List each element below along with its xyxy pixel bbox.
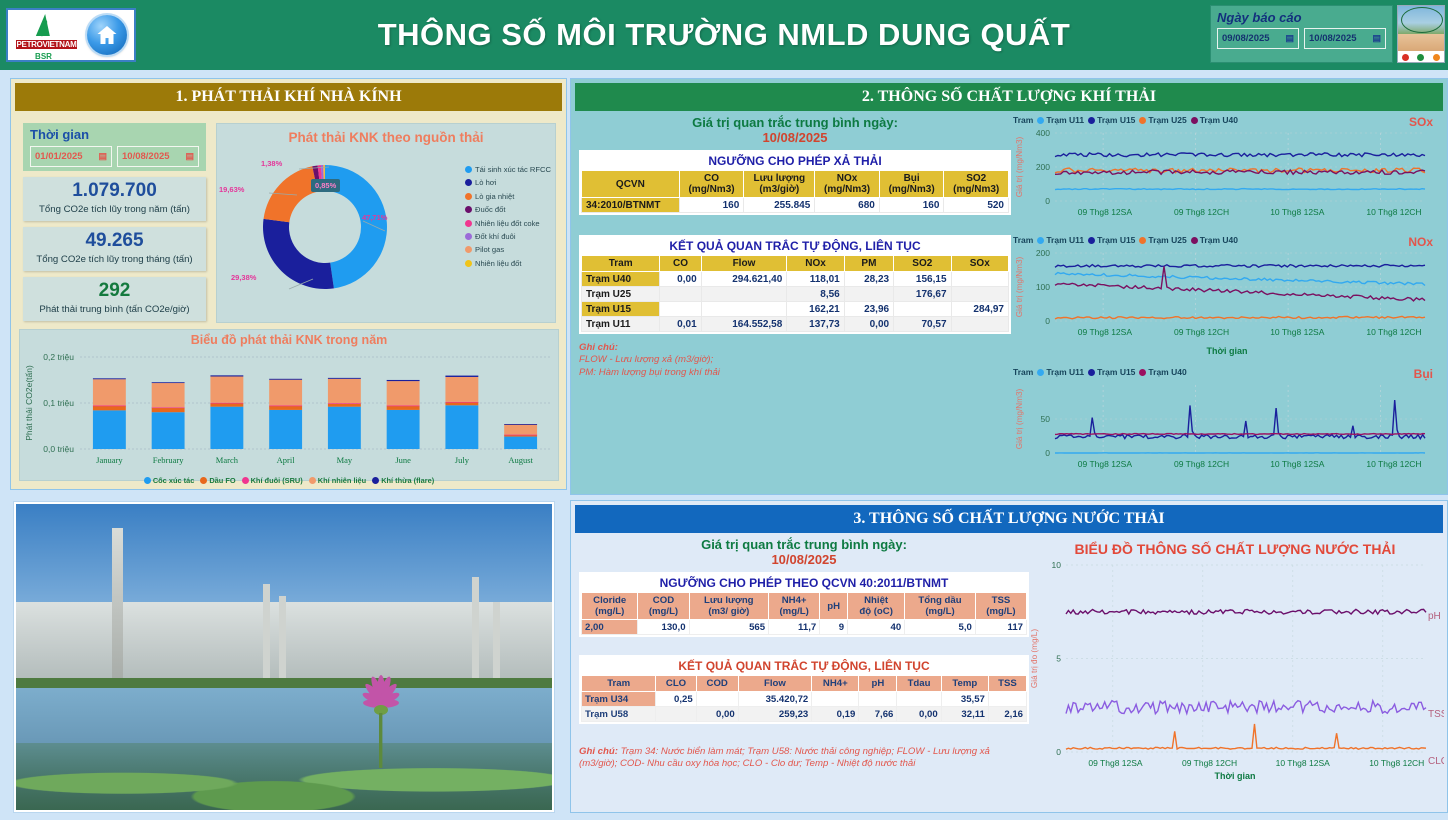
calendar-icon[interactable]: ▤ [1372,33,1381,44]
calendar-icon[interactable]: ▤ [185,151,194,162]
chart-wastewater[interactable]: BIỂU ĐỒ THÔNG SỐ CHẤT LƯỢNG NƯỚC THẢI 05… [1026,541,1444,781]
table-cell: 23,96 [844,302,893,317]
legend-color-dot [1088,117,1095,124]
line-series[interactable] [1055,189,1425,190]
table-cell [812,692,859,707]
wastewater-chart-title: BIỂU ĐỒ THÔNG SỐ CHẤT LƯỢNG NƯỚC THẢI [1026,541,1444,557]
y-axis-label: Phát thải CO2e(tấn) [24,365,34,441]
bui-legend[interactable]: TramTrạm U11Trạm U15Trạm U40 [1011,367,1443,377]
column-header: Lưu lượng(m3/giờ) [744,171,815,198]
table-cell: 40 [848,620,905,635]
report-date-to[interactable]: 10/08/2025 ▤ [1304,28,1386,49]
panel2-threshold-table-wrap: NGƯỠNG CHO PHÉP XẢ THẢI QCVNCO(mg/Nm3)Lư… [579,150,1011,215]
x-axis-tick: 10 Thg8 12CH [1369,758,1424,768]
column-header: Cloride(mg/L) [582,593,638,620]
bar-segment[interactable] [328,378,361,379]
legend-item[interactable]: Nhiên liệu đốt [465,259,551,268]
column-header: pH [820,593,848,620]
legend-item[interactable]: Đốt khí đuôi [465,232,551,241]
report-date-from-value: 09/08/2025 [1222,33,1270,44]
bar-segment[interactable] [269,405,302,406]
refinery-lotus-photo [14,502,554,812]
column-header: Flow [738,676,812,692]
legend-title: Tram [1013,367,1033,377]
line-series[interactable] [1055,273,1425,286]
row-header-cell: Trạm U25 [582,287,660,302]
panel3-results-table[interactable]: TramCLOCODFlowNH4+pHTdauTempTSS Trạm U34… [581,675,1027,722]
y-axis-tick: 0,2 triệu [43,352,74,362]
x-axis-tick: April [277,455,296,465]
sox-chart-title: SOx [1409,115,1433,129]
environment-emblem-icon [1397,5,1445,63]
column-header: Temp [941,676,988,692]
table-cell: 2,16 [988,707,1026,722]
legend-item[interactable]: Trạm U11 [1037,367,1084,377]
table-cell: 7,66 [859,707,897,722]
column-header: COD(mg/L) [638,593,689,620]
bar-segment[interactable] [504,435,537,436]
legend-item[interactable]: Đuốc đốt [465,205,551,214]
legend-label: Khí nhiên liệu [318,476,366,485]
kpi-card-month-total: 49.265 Tổng CO2e tích lũy trong tháng (t… [23,227,206,271]
table-cell: 137,73 [787,317,844,332]
table-cell: 160 [679,198,744,213]
panel3-threshold-table: Cloride(mg/L)COD(mg/L)Lưu lượng(m3/ giờ)… [581,592,1027,635]
kpi-label: Tổng CO2e tích lũy trong năm (tấn) [23,204,206,215]
legend-label: Cốc xúc tác [153,476,195,485]
legend-label: Trạm U15 [1097,367,1135,377]
legend-label: Nhiên liệu đốt [475,259,521,268]
x-axis-tick: 09 Thg8 12CH [1182,758,1237,768]
table-cell [660,302,701,317]
table-cell: 35,57 [941,692,988,707]
chart-bui[interactable]: TramTrạm U11Trạm U15Trạm U40 Bụi 050Giá … [1011,367,1443,485]
bar-segment[interactable] [504,424,537,434]
y-axis-tick: 50 [1041,414,1051,424]
bar-segment[interactable] [210,377,243,403]
legend-color-dot [465,246,472,253]
brand-name-bottom: BSR [16,52,72,61]
panel3-note: Ghi chú: Trạm 34: Nước biển làm mát; Trạ… [579,746,1029,771]
line-series[interactable] [1055,400,1425,439]
chart-nox[interactable]: TramTrạm U11Trạm U15Trạm U25Trạm U40 NOx… [1011,235,1443,365]
bar-segment[interactable] [152,408,185,413]
x-axis-tick: July [455,455,470,465]
line-series[interactable] [1055,153,1425,157]
legend-item[interactable]: Nhiên liệu đốt coke [465,219,551,228]
nox-xaxis-label: Thời gian [1011,346,1443,356]
legend-item[interactable]: Khí đuôi (SRU) [242,476,303,485]
column-header: QCVN [582,171,680,198]
bar-segment[interactable] [152,412,185,449]
panel3-note-line: Trạm 34: Nước biển làm mát; Trạm U58: Nư… [621,746,990,757]
kpi-value: 1.079.700 [23,180,206,202]
panel-emission-quality: 2. THÔNG SỐ CHẤT LƯỢNG KHÍ THẢI Giá trị … [570,78,1448,495]
table-cell: 0,00 [660,272,701,287]
bar-segment[interactable] [152,407,185,408]
column-header: CO [660,256,701,272]
bar-segment[interactable] [445,376,478,377]
kpi-value: 292 [23,280,206,302]
legend-color-dot [1037,117,1044,124]
table-cell: 0,19 [812,707,859,722]
column-header: SOx [951,256,1008,272]
bar-segment[interactable] [328,379,361,403]
legend-label: Trạm U11 [1046,367,1084,377]
x-axis-tick: 09 Thg8 12SA [1078,459,1133,469]
bar-segment[interactable] [210,403,243,404]
panel2-threshold-table: QCVNCO(mg/Nm3)Lưu lượng(m3/giờ)NOx(mg/Nm… [581,170,1009,213]
panel2-note-title: Ghi chú: [579,342,618,353]
table-cell: 28,23 [844,272,893,287]
panel2-note: Ghi chú: FLOW - Lưu lượng xả (m3/giờ); P… [579,342,1011,379]
bui-chart-title: Bụi [1414,367,1433,381]
bar-segment[interactable] [504,424,537,425]
table-row[interactable]: Trạm U400,00294.621,40118,0128,23156,15 [582,272,1009,287]
column-header: COD [696,676,738,692]
column-header: TSS(mg/L) [975,593,1026,620]
table-cell: 9 [820,620,848,635]
donut-slice[interactable] [263,219,334,289]
x-axis-tick: May [337,455,353,465]
bar-segment[interactable] [152,383,185,407]
table-header-row: TramCOFlowNOxPMSO2SOx [582,256,1009,272]
legend-label: Dầu FO [209,476,235,485]
y-axis-tick: 200 [1036,248,1050,258]
column-header: NOx [787,256,844,272]
legend-item[interactable]: Trạm U11 [1037,235,1084,245]
bar-segment[interactable] [387,380,420,381]
column-header: Nhiệtđộ (oC) [848,593,905,620]
legend-label: Pilot gas [475,245,504,254]
legend-label: Trạm U15 [1097,235,1135,245]
panel1-title: 1. PHÁT THẢI KHÍ NHÀ KÍNH [15,83,562,111]
legend-label: Trạm U40 [1200,115,1238,125]
legend-title: Tram [1013,115,1033,125]
table-cell: 0,00 [844,317,893,332]
report-date-to-value: 10/08/2025 [1309,33,1357,44]
donut-percent-label: 47,71% [362,213,387,222]
legend-label: Đốt khí đuôi [475,232,516,241]
x-axis-tick: June [395,455,411,465]
legend-label: Trạm U25 [1148,235,1186,245]
bar-segment[interactable] [269,406,302,410]
line-series[interactable] [1066,724,1426,749]
x-axis-tick: February [153,455,184,465]
column-header: CLO [656,676,696,692]
y-axis-tick: 0 [1056,747,1061,757]
bar-segment[interactable] [93,410,126,449]
legend-item[interactable]: Trạm U11 [1037,115,1084,125]
legend-label: Trạm U15 [1097,115,1135,125]
table-cell: 520 [944,198,1009,213]
legend-label: Khí thừa (flare) [381,476,434,485]
x-axis-tick: August [508,455,533,465]
legend-label: Trạm U11 [1046,235,1084,245]
legend-color-dot [465,206,472,213]
line-series[interactable] [1066,701,1426,714]
chart-sox[interactable]: TramTrạm U11Trạm U15Trạm U25Trạm U40 SOx… [1011,115,1443,233]
table-row[interactable]: Trạm U15162,2123,96284,97 [582,302,1009,317]
lotus-flower-icon [348,668,414,773]
table-cell [696,692,738,707]
legend-item[interactable]: Trạm U25 [1139,115,1186,125]
time-filter-from[interactable]: 01/01/2025 ▤ [30,146,112,167]
legend-color-dot [465,179,472,186]
y-axis-tick: 0,1 triệu [43,398,74,408]
panel3-threshold-caption: NGƯỠNG CHO PHÉP THEO QCVN 40:2011/BTNMT [581,574,1027,592]
table-row[interactable]: Trạm U258,56176,67 [582,287,1009,302]
bar-segment[interactable] [210,403,243,407]
legend-item[interactable]: Pilot gas [465,245,551,254]
legend-color-dot [1037,237,1044,244]
legend-item[interactable]: Cốc xúc tác [144,476,195,485]
legend-item[interactable]: Trạm U40 [1191,115,1238,125]
table-cell: 5,0 [905,620,976,635]
nox-chart-title: NOx [1408,235,1433,249]
nox-legend[interactable]: TramTrạm U11Trạm U15Trạm U25Trạm U40 [1011,235,1443,245]
donut-percent-label: 0,85% [311,179,340,192]
column-header: Tram [582,256,660,272]
wastewater-xaxis-label: Thời gian [1026,771,1444,781]
legend-color-dot [372,477,379,484]
panel2-note-line: PM: Hàm lượng bụi trong khí thải [579,367,1011,379]
x-axis-tick: 09 Thg8 12SA [1088,758,1143,768]
bar-segment[interactable] [210,375,243,376]
legend-item[interactable]: Lò hơi [465,178,551,187]
column-header: Flow [701,256,787,272]
column-header: SO2(mg/Nm3) [944,171,1009,198]
x-axis-tick: 09 Thg8 12CH [1174,207,1229,217]
donut-percent-label: 19,63% [219,185,244,194]
y-axis-tick: 0 [1045,196,1050,206]
line-series[interactable] [1066,609,1426,614]
sox-legend[interactable]: TramTrạm U11Trạm U15Trạm U25Trạm U40 [1011,115,1443,125]
calendar-icon[interactable]: ▤ [98,151,107,162]
report-date-panel: Ngày báo cáo 09/08/2025 ▤ 10/08/2025 ▤ [1210,5,1393,63]
table-cell: 160 [879,198,944,213]
table-cell [701,287,787,302]
panel2-threshold-caption: NGƯỠNG CHO PHÉP XẢ THẢI [581,152,1009,170]
line-series[interactable] [1055,265,1425,268]
table-header-row: Cloride(mg/L)COD(mg/L)Lưu lượng(m3/ giờ)… [582,593,1027,620]
report-date-label: Ngày báo cáo [1217,10,1386,25]
table-cell [844,287,893,302]
x-axis-tick: 10 Thg8 12SA [1270,207,1325,217]
panel2-avg-title: Giá trị quan trắc trung bình ngày: [579,115,1011,130]
bar-segment[interactable] [445,377,478,402]
table-cell: 565 [689,620,769,635]
time-filter-from-value: 01/01/2025 [35,151,83,162]
legend-item[interactable]: Khí nhiên liệu [309,476,366,485]
table-cell [656,707,696,722]
table-header-row: QCVNCO(mg/Nm3)Lưu lượng(m3/giờ)NOx(mg/Nm… [582,171,1009,198]
table-row[interactable]: Trạm U340,2535.420,7235,57 [582,692,1027,707]
x-axis-tick: 10 Thg8 12CH [1366,327,1421,337]
legend-label: Khí đuôi (SRU) [251,476,303,485]
bar-segment[interactable] [445,402,478,403]
bar-segment[interactable] [93,379,126,405]
table-cell: 32,11 [941,707,988,722]
kpi-value: 49.265 [23,230,206,252]
panel3-threshold-table-wrap: NGƯỠNG CHO PHÉP THEO QCVN 40:2011/BTNMT … [579,572,1029,637]
column-header: SO2 [894,256,951,272]
time-filter-to[interactable]: 10/08/2025 ▤ [117,146,199,167]
bar-segment[interactable] [328,407,361,449]
table-row[interactable]: 2,00130,056511,79405,0117 [582,620,1027,635]
bar-segment[interactable] [387,405,420,406]
legend-label: Trạm U40 [1148,367,1186,377]
bar-segment[interactable] [152,382,185,383]
table-cell: 164.552,58 [701,317,787,332]
y-axis-tick: 0 [1045,316,1050,326]
legend-label: Lò hơi [475,178,496,187]
x-axis-tick: 09 Thg8 12CH [1174,327,1229,337]
line-series[interactable] [1055,434,1425,435]
y-axis-tick: 5 [1056,654,1061,664]
kpi-card-year-total: 1.079.700 Tổng CO2e tích lũy trong năm (… [23,177,206,221]
series-label: pH [1428,611,1441,622]
donut-svg [225,149,425,309]
table-row[interactable]: Trạm U580,00259,230,197,660,0032,112,16 [582,707,1027,722]
panel3-note-line: (m3/giờ); COD- Nhu cầu oxy hóa học; CLO … [579,758,1029,770]
bar-segment[interactable] [328,403,361,404]
legend-item[interactable]: Tái sinh xúc tác RFCC [465,165,551,174]
y-axis-tick: 400 [1036,128,1050,138]
y-axis-label: Giá trị đo (mg/L) [1030,629,1039,688]
app-header: THÔNG SỐ MÔI TRƯỜNG NMLD DUNG QUẤT PETRO… [0,0,1448,70]
bar-segment[interactable] [504,437,537,449]
panel2-title: 2. THÔNG SỐ CHẤT LƯỢNG KHÍ THẢI [575,83,1443,111]
legend-color-dot [1139,117,1146,124]
kpi-label: Phát thải trung bình (tấn CO2e/giờ) [23,304,206,315]
legend-color-dot [465,260,472,267]
bar-segment[interactable] [93,406,126,411]
legend-label: Trạm U25 [1148,115,1186,125]
home-icon[interactable] [87,15,127,55]
panel3-avg-date: 10/08/2025 [579,552,1029,567]
legend-color-dot [309,477,316,484]
table-cell: 0,01 [660,317,701,332]
column-header: Bụi(mg/Nm3) [879,171,944,198]
panel-wastewater-quality: 3. THÔNG SỐ CHẤT LƯỢNG NƯỚC THẢI Giá trị… [570,500,1448,813]
kpi-card-average: 292 Phát thải trung bình (tấn CO2e/giờ) [23,277,206,321]
bar-segment[interactable] [93,378,126,379]
brand-name-top: PETROVIETNAM [16,40,78,49]
panel2-avg-date: 10/08/2025 [579,130,1011,145]
legend-item[interactable]: Trạm U15 [1088,367,1135,377]
row-header-cell: 2,00 [582,620,638,635]
bar-chart-svg: 0,0 triệu0,1 triệu0,2 triệuPhát thải CO2… [20,347,558,475]
legend-item[interactable]: Trạm U15 [1088,235,1135,245]
x-axis-tick: 09 Thg8 12SA [1078,207,1133,217]
y-axis-label: Giá trị (mg/Nm3) [1015,136,1024,197]
column-header: pH [859,676,897,692]
time-filter-label: Thời gian [30,127,199,142]
bar-segment[interactable] [387,410,420,449]
table-cell: 118,01 [787,272,844,287]
table-row[interactable]: Trạm U110,01164.552,58137,730,0070,57 [582,317,1009,332]
panel2-results-table-wrap: KẾT QUẢ QUAN TRẮC TỰ ĐỘNG, LIÊN TỤC Tram… [579,235,1011,334]
table-cell: 156,15 [894,272,951,287]
table-cell: 117 [975,620,1026,635]
x-axis-tick: 10 Thg8 12CH [1366,207,1421,217]
legend-color-dot [200,477,207,484]
table-cell [660,287,701,302]
legend-item[interactable]: Khí thừa (flare) [372,476,434,485]
donut-legend[interactable]: Tái sinh xúc tác RFCCLò hơiLò gia nhiệtĐ… [465,165,551,272]
legend-label: Trạm U40 [1200,235,1238,245]
table-cell [859,692,897,707]
brand-logo[interactable]: PETROVIETNAM BSR [6,8,136,62]
panel3-avg-title: Giá trị quan trắc trung bình ngày: [579,537,1029,552]
bar-segment[interactable] [445,405,478,449]
legend-color-dot [465,193,472,200]
y-axis-tick: 0,0 triệu [43,444,74,454]
legend-color-dot [465,233,472,240]
chart-knk-by-source[interactable]: Phát thải KNK theo nguồn thải 47,71%29,3… [216,123,556,323]
bar-segment[interactable] [269,380,302,406]
row-header-cell: Trạm U34 [582,692,656,707]
legend-item[interactable]: Dầu FO [200,476,235,485]
table-cell: 130,0 [638,620,689,635]
legend-color-dot [1191,237,1198,244]
legend-item[interactable]: Trạm U15 [1088,115,1135,125]
legend-color-dot [144,477,151,484]
legend-label: Đuốc đốt [475,205,505,214]
bar-segment[interactable] [269,410,302,449]
legend-item[interactable]: Lò gia nhiệt [465,192,551,201]
bui-chart-svg: 050Giá trị (mg/Nm3)09 Thg8 12SA09 Thg8 1… [1011,377,1443,473]
legend-item[interactable]: Trạm U40 [1191,235,1238,245]
bar-segment[interactable] [387,381,420,405]
donut-chart-title: Phát thải KNK theo nguồn thải [217,130,555,145]
column-header: NH4+ [812,676,859,692]
bar-segment[interactable] [387,406,420,410]
bar-segment[interactable] [93,405,126,406]
calendar-icon[interactable]: ▤ [1285,33,1294,44]
time-filter-to-value: 10/08/2025 [122,151,170,162]
bar-chart-legend[interactable]: Cốc xúc tácDầu FOKhí đuôi (SRU)Khí nhiên… [20,476,558,485]
panel2-results-table[interactable]: TramCOFlowNOxPMSO2SOx Trạm U400,00294.62… [581,255,1009,332]
line-series[interactable] [1055,316,1425,319]
line-series[interactable] [1055,266,1425,301]
bar-segment[interactable] [269,379,302,380]
y-axis-label: Giá trị (mg/Nm3) [1015,388,1024,449]
nox-chart-svg: 0100200Giá trị (mg/Nm3)09 Thg8 12SA09 Th… [1011,245,1443,341]
y-axis-label: Giá trị (mg/Nm3) [1015,256,1024,317]
legend-label: Trạm U11 [1046,115,1084,125]
donut-percent-label: 29,38% [231,273,256,282]
bar-segment[interactable] [210,407,243,449]
x-axis-tick: March [216,455,239,465]
report-date-from[interactable]: 09/08/2025 ▤ [1217,28,1299,49]
legend-title: Tram [1013,235,1033,245]
legend-label: Lò gia nhiệt [475,192,514,201]
table-cell: 8,56 [787,287,844,302]
y-axis-tick: 200 [1036,162,1050,172]
chart-knk-yearly[interactable]: Biểu đồ phát thải KNK trong năm 0,0 triệ… [19,329,559,481]
column-header: TSS [988,676,1026,692]
table-cell: 176,67 [894,287,951,302]
legend-item[interactable]: Trạm U40 [1139,367,1186,377]
table-cell: 284,97 [951,302,1008,317]
row-header-cell: Trạm U11 [582,317,660,332]
table-cell: 35.420,72 [738,692,812,707]
table-row[interactable]: 34:2010/BTNMT160255.845680160520 [582,198,1009,213]
panel2-results-caption: KẾT QUẢ QUAN TRẮC TỰ ĐỘNG, LIÊN TỤC [581,237,1009,255]
legend-item[interactable]: Trạm U25 [1139,235,1186,245]
